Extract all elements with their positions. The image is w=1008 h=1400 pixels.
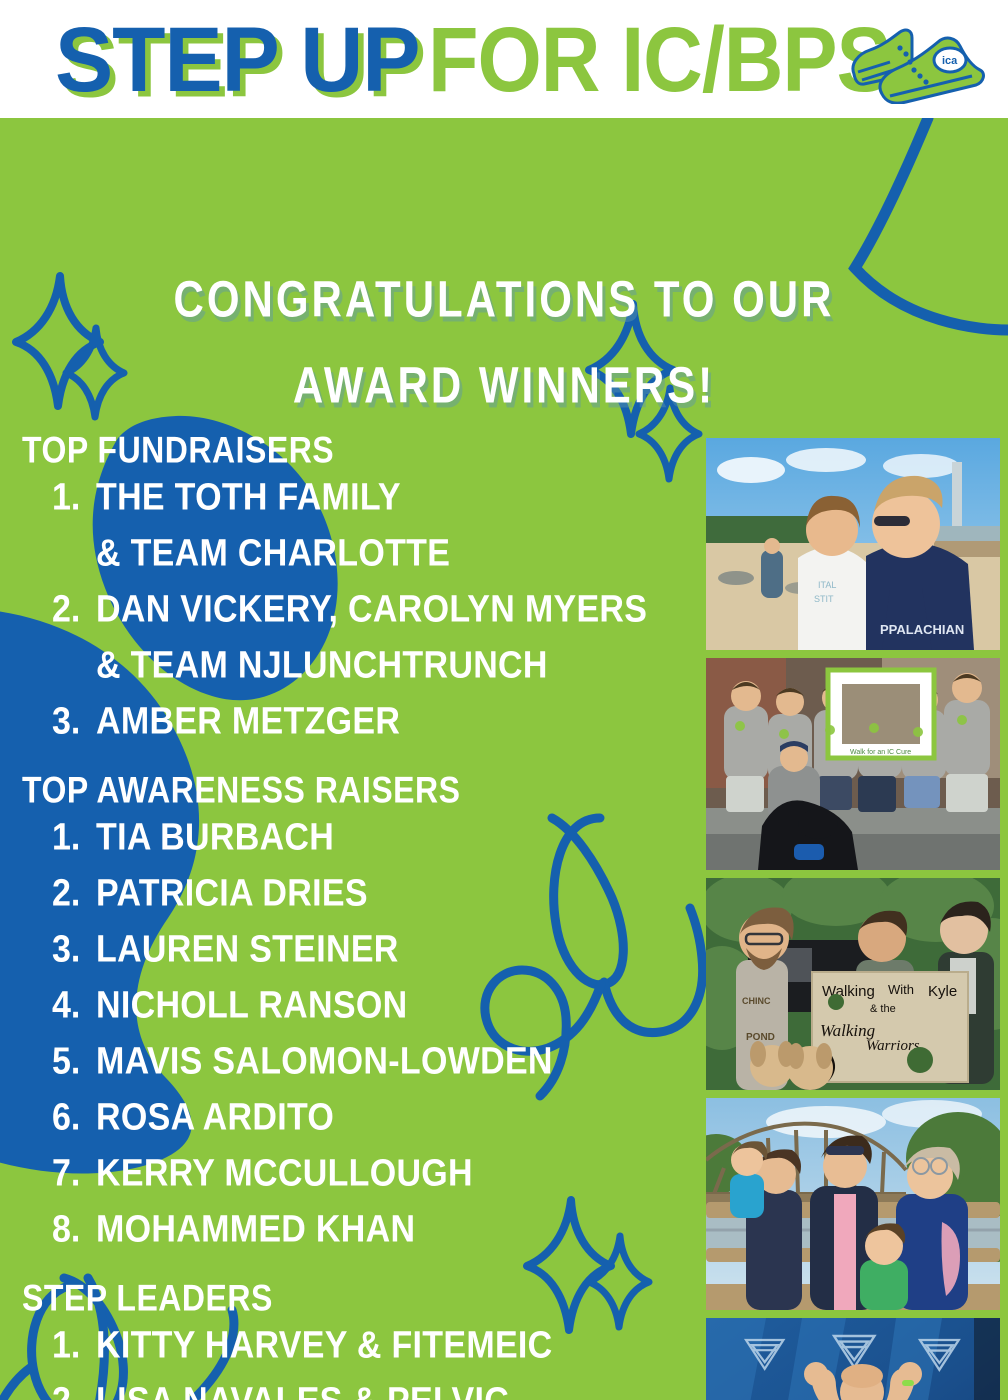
award-entry: 3.LAUREN STEINER <box>0 918 700 974</box>
award-entry: 1.TIA BURBACH <box>0 806 700 862</box>
award-entry-name: THE TOTH FAMILY <box>96 466 401 529</box>
award-entry: 1.THE TOTH FAMILY <box>0 466 700 522</box>
award-entry-name: ROSA ARDITO <box>96 1086 334 1149</box>
award-entry: 7.KERRY MCCULLOUGH <box>0 1142 700 1198</box>
award-entry-number: 7. <box>52 1142 96 1205</box>
award-entry-number: 5. <box>52 1030 96 1093</box>
sneakers-icon: ica <box>846 18 986 104</box>
shoe-patch-label: ica <box>942 55 958 67</box>
award-entry-number: 4. <box>52 974 96 1037</box>
award-entry: 2.DAN VICKERY, CAROLYN MYERS <box>0 578 700 634</box>
subtitle-line-2: AWARD WINNERS! <box>0 349 1008 422</box>
award-entry: 4.NICHOLL RANSON <box>0 974 700 1030</box>
photo-walking-with-kyle-sign: CHINC POND Walking <box>706 878 1000 1090</box>
award-entry-name: MOHAMMED KHAN <box>96 1198 415 1261</box>
award-entry-name: KERRY MCCULLOUGH <box>96 1142 473 1205</box>
award-entry-name: DAN VICKERY, CAROLYN MYERS <box>96 578 647 641</box>
photo-beach-two-women: ITAL STIT PPALACHIAN <box>706 438 1000 650</box>
award-entry-number: 2. <box>52 862 96 925</box>
photo-team-grey-shirts: Walk for an IC Cure <box>706 658 1000 870</box>
subtitle-block: CONGRATULATIONS TO OUR AWARD WINNERS! <box>0 263 1008 409</box>
svg-text:POND: POND <box>746 1032 775 1043</box>
photo-family-on-bridge <box>706 1098 1000 1310</box>
svg-text:PPALACHIAN: PPALACHIAN <box>880 622 964 637</box>
award-entry-number: 2. <box>52 1370 96 1400</box>
awards-list: TOP FUNDRAISERS1.THE TOTH FAMILY& TEAM C… <box>0 428 700 1400</box>
award-entry: 1.KITTY HARVEY & FITEMEIC <box>0 1314 700 1370</box>
title-step-up: STEP UP <box>55 5 419 112</box>
award-entry-number: 6. <box>52 1086 96 1149</box>
header-title: STEP UP FOR IC/BPS <box>55 14 865 104</box>
green-background: CONGRATULATIONS TO OUR AWARD WINNERS! TO… <box>0 118 1008 1400</box>
award-entry: 6.ROSA ARDITO <box>0 1086 700 1142</box>
header-bar: STEP UP FOR IC/BPS ica <box>0 0 1008 118</box>
svg-text:Kyle: Kyle <box>928 983 957 1000</box>
award-entry-name: NICHOLL RANSON <box>96 974 407 1037</box>
award-entry-number: 1. <box>52 466 96 529</box>
title-for-icbps: FOR IC/BPS <box>428 5 891 112</box>
award-entry-name: MAVIS SALOMON-LOWDEN <box>96 1030 553 1093</box>
award-entry-name: LAUREN STEINER <box>96 918 399 981</box>
svg-text:& the: & the <box>870 1003 896 1015</box>
svg-text:CHINC: CHINC <box>742 996 771 1006</box>
award-group: TOP AWARENESS RAISERS1.TIA BURBACH2.PATR… <box>0 768 700 1254</box>
award-entry-number: 1. <box>52 806 96 869</box>
award-entry-name: PATRICIA DRIES <box>96 862 368 925</box>
photo-man-flexing-backdrop: CURBRAWING IC <box>706 1318 1000 1400</box>
award-entry: 2.PATRICIA DRIES <box>0 862 700 918</box>
award-entry-name: KITTY HARVEY & FITEMEIC <box>96 1314 553 1377</box>
svg-text:STIT: STIT <box>814 594 834 604</box>
award-entry-number: 3. <box>52 690 96 753</box>
svg-text:ITAL: ITAL <box>818 580 836 590</box>
award-entry: 3.AMBER METZGER <box>0 690 700 746</box>
photo-gallery: ITAL STIT PPALACHIAN <box>706 438 1000 1400</box>
award-group: TOP FUNDRAISERS1.THE TOTH FAMILY& TEAM C… <box>0 428 700 746</box>
award-entry-name: AMBER METZGER <box>96 690 400 753</box>
award-entry: 8.MOHAMMED KHAN <box>0 1198 700 1254</box>
award-entry-continuation: & TEAM NJLUNCHTRUNCH <box>0 634 700 697</box>
award-entry: 5.MAVIS SALOMON-LOWDEN <box>0 1030 700 1086</box>
svg-text:With: With <box>888 982 914 997</box>
svg-text:Walk for an IC Cure: Walk for an IC Cure <box>850 749 911 756</box>
award-entry-continuation: & TEAM CHARLOTTE <box>0 522 700 585</box>
poster-canvas: CONGRATULATIONS TO OUR AWARD WINNERS! TO… <box>0 0 1008 1400</box>
award-group: STEP LEADERS1.KITTY HARVEY & FITEMEIC2.L… <box>0 1276 700 1400</box>
award-entry-name: TIA BURBACH <box>96 806 334 869</box>
award-entry-name: LISA NAVALES & PELVIC THRUSTERS <box>96 1370 700 1400</box>
award-entry-number: 1. <box>52 1314 96 1377</box>
award-entry: 2.LISA NAVALES & PELVIC THRUSTERS <box>0 1370 700 1400</box>
award-entry-number: 2. <box>52 578 96 641</box>
award-entry-number: 3. <box>52 918 96 981</box>
subtitle-line-1: CONGRATULATIONS TO OUR <box>0 263 1008 336</box>
award-entry-number: 8. <box>52 1198 96 1261</box>
